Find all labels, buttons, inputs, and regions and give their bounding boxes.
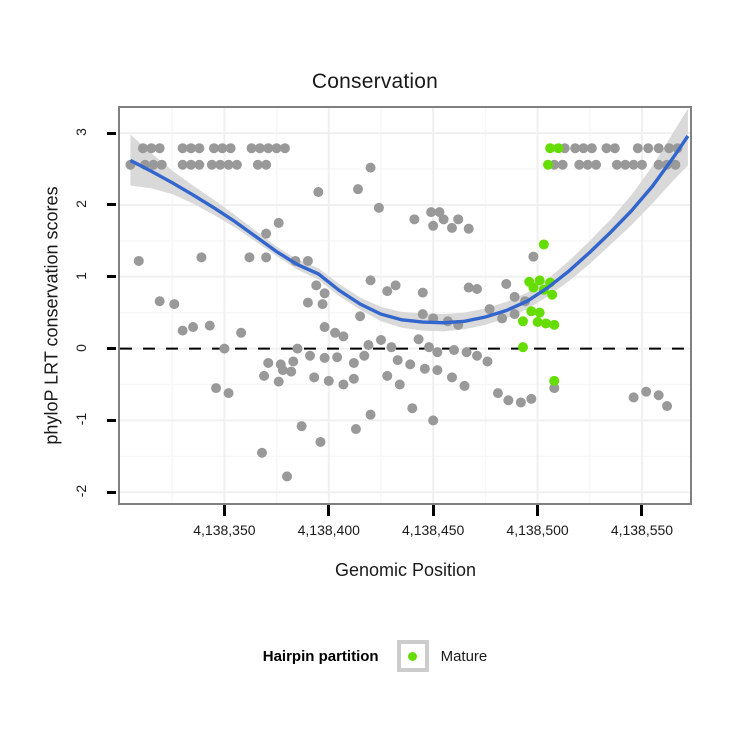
y-tick-label: -2 xyxy=(73,471,89,511)
data-point xyxy=(257,448,267,458)
data-point xyxy=(439,214,449,224)
data-point xyxy=(447,372,457,382)
data-point xyxy=(493,388,503,398)
data-point xyxy=(462,347,472,357)
data-point xyxy=(382,371,392,381)
data-point xyxy=(472,284,482,294)
data-point xyxy=(320,288,330,298)
data-point xyxy=(155,143,165,153)
data-point xyxy=(224,388,234,398)
gridlines-major xyxy=(120,108,690,503)
data-point xyxy=(386,342,396,352)
data-point xyxy=(205,321,215,331)
data-point xyxy=(510,292,520,302)
x-tick-label: 4,138,400 xyxy=(269,522,389,538)
x-axis-title: Genomic Position xyxy=(118,560,693,581)
data-point xyxy=(303,298,313,308)
data-point xyxy=(485,304,495,314)
data-point xyxy=(349,358,359,368)
data-point xyxy=(366,275,376,285)
data-point xyxy=(278,365,288,375)
data-point xyxy=(547,290,557,300)
data-point xyxy=(196,252,206,262)
data-point xyxy=(526,306,536,316)
data-point xyxy=(501,279,511,289)
x-tick-label: 4,138,350 xyxy=(164,522,284,538)
data-point xyxy=(553,143,563,153)
data-point xyxy=(280,143,290,153)
data-point xyxy=(286,367,296,377)
data-point xyxy=(320,353,330,363)
data-point xyxy=(464,283,474,293)
smooth-confidence-band xyxy=(130,109,687,332)
data-point xyxy=(610,143,620,153)
y-tick-mark xyxy=(107,491,116,494)
data-point xyxy=(535,308,545,318)
data-point xyxy=(288,357,298,367)
data-point xyxy=(309,372,319,382)
data-point xyxy=(324,376,334,386)
data-point xyxy=(528,283,538,293)
data-point xyxy=(194,143,204,153)
plot-panel xyxy=(118,106,692,505)
y-tick-label: -1 xyxy=(73,399,89,439)
data-point xyxy=(393,355,403,365)
data-point xyxy=(549,376,559,386)
data-point xyxy=(482,357,492,367)
data-point xyxy=(558,160,568,170)
y-axis-title: phyloP LRT conservation scores xyxy=(42,116,63,516)
y-tick-mark xyxy=(107,132,116,135)
data-point xyxy=(318,299,328,309)
data-point xyxy=(274,218,284,228)
data-point xyxy=(305,351,315,361)
data-point xyxy=(236,328,246,338)
data-point xyxy=(351,424,361,434)
data-point xyxy=(188,322,198,332)
data-point xyxy=(211,383,221,393)
data-point xyxy=(320,322,330,332)
data-point xyxy=(382,286,392,296)
data-point xyxy=(297,421,307,431)
x-tick-label: 4,138,550 xyxy=(582,522,702,538)
gridlines-minor xyxy=(120,108,690,503)
data-point xyxy=(472,351,482,361)
data-point xyxy=(194,160,204,170)
x-tick-mark xyxy=(640,505,643,516)
data-point xyxy=(654,143,664,153)
y-tick-label: 0 xyxy=(73,328,89,368)
data-point xyxy=(591,160,601,170)
data-point xyxy=(428,415,438,425)
y-tick-mark xyxy=(107,419,116,422)
y-tick-mark xyxy=(107,203,116,206)
data-point xyxy=(311,280,321,290)
data-point xyxy=(374,203,384,213)
data-point xyxy=(366,163,376,173)
data-point xyxy=(447,223,457,233)
data-point xyxy=(178,326,188,336)
y-tick-mark xyxy=(107,275,116,278)
data-point xyxy=(543,160,553,170)
data-point xyxy=(409,214,419,224)
data-point xyxy=(533,317,543,327)
data-point xyxy=(169,299,179,309)
data-point xyxy=(526,394,536,404)
data-point xyxy=(662,401,672,411)
data-point xyxy=(261,229,271,239)
data-point xyxy=(282,471,292,481)
y-tick-mark xyxy=(107,347,116,350)
data-point xyxy=(518,316,528,326)
data-point xyxy=(541,318,551,328)
data-point xyxy=(292,344,302,354)
x-tick-mark xyxy=(223,505,226,516)
chart-title: Conservation xyxy=(0,70,750,94)
data-point xyxy=(261,160,271,170)
x-tick-mark xyxy=(536,505,539,516)
data-point xyxy=(353,184,363,194)
data-point xyxy=(155,296,165,306)
data-point xyxy=(518,342,528,352)
data-point xyxy=(449,345,459,355)
data-point xyxy=(420,364,430,374)
data-point xyxy=(338,380,348,390)
data-point xyxy=(503,395,513,405)
data-point xyxy=(641,387,651,397)
data-point xyxy=(303,256,313,266)
data-point xyxy=(432,347,442,357)
x-tick-label: 4,138,450 xyxy=(373,522,493,538)
data-point xyxy=(643,143,653,153)
data-point xyxy=(219,344,229,354)
data-point xyxy=(332,352,342,362)
x-tick-label: 4,138,500 xyxy=(478,522,598,538)
data-point xyxy=(259,371,269,381)
data-point xyxy=(338,331,348,341)
data-point xyxy=(355,311,365,321)
data-point xyxy=(460,381,470,391)
data-point xyxy=(157,160,167,170)
data-point xyxy=(464,224,474,234)
legend-title: Hairpin partition xyxy=(263,648,379,665)
data-point xyxy=(629,392,639,402)
data-point xyxy=(232,160,242,170)
data-point xyxy=(510,309,520,319)
legend-label-mature: Mature xyxy=(441,648,488,665)
x-tick-mark xyxy=(432,505,435,516)
y-tick-label: 2 xyxy=(73,184,89,224)
data-point xyxy=(424,342,434,352)
x-tick-mark xyxy=(327,505,330,516)
data-point xyxy=(414,334,424,344)
legend-marker-mature-icon xyxy=(408,652,417,661)
data-point xyxy=(376,335,386,345)
data-point xyxy=(134,256,144,266)
data-point xyxy=(418,309,428,319)
data-point xyxy=(315,437,325,447)
data-point xyxy=(407,403,417,413)
data-point xyxy=(261,252,271,262)
data-point xyxy=(363,340,373,350)
data-point xyxy=(418,288,428,298)
data-point xyxy=(366,410,376,420)
data-point xyxy=(453,214,463,224)
chart-root: Conservation phyloP LRT conservation sco… xyxy=(0,0,750,750)
y-tick-label: 1 xyxy=(73,256,89,296)
data-point xyxy=(528,252,538,262)
data-point xyxy=(313,187,323,197)
data-point xyxy=(244,252,254,262)
data-point xyxy=(359,351,369,361)
data-point xyxy=(497,313,507,323)
data-point xyxy=(349,374,359,384)
data-point xyxy=(432,365,442,375)
legend-key-mature[interactable] xyxy=(397,640,429,672)
data-point xyxy=(539,239,549,249)
data-point xyxy=(637,160,647,170)
data-point xyxy=(263,358,273,368)
data-point xyxy=(587,143,597,153)
plot-area xyxy=(120,108,690,503)
data-point xyxy=(274,377,284,387)
data-point xyxy=(428,221,438,231)
data-point xyxy=(391,280,401,290)
data-point xyxy=(516,397,526,407)
data-point xyxy=(549,320,559,330)
data-point xyxy=(633,143,643,153)
data-point xyxy=(654,390,664,400)
legend: Hairpin partition Mature xyxy=(0,640,750,672)
data-point xyxy=(226,143,236,153)
y-tick-label: 3 xyxy=(73,112,89,152)
data-point xyxy=(405,359,415,369)
data-point xyxy=(395,380,405,390)
